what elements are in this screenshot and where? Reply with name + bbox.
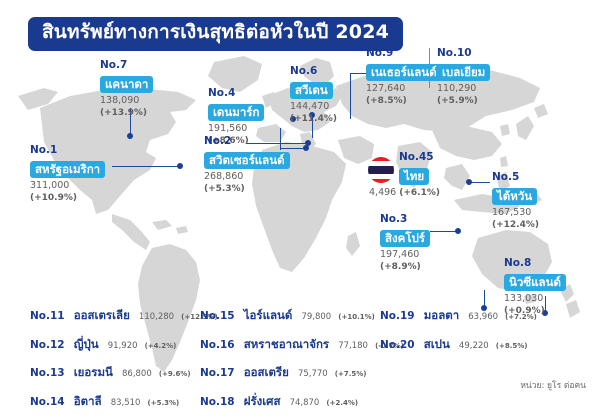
callout-rank: No.4 bbox=[208, 88, 264, 100]
callout-belgium[interactable]: No.10 เบลเยียม 110,290 (+5.9%) bbox=[437, 48, 490, 107]
list-value: 74,870 bbox=[290, 398, 320, 408]
callout-rank: No.7 bbox=[100, 60, 153, 72]
infographic-root: สินทรัพย์ทางการเงินสุทธิต่อหัวในปี 2024 … bbox=[0, 0, 600, 400]
unit-footnote: หน่วย: ยูโร ต่อคน bbox=[520, 378, 586, 392]
list-value: 86,800 bbox=[122, 369, 152, 379]
list-value: 79,800 bbox=[301, 312, 331, 322]
list-country: มอลตา bbox=[424, 308, 459, 322]
callout-country: ไทย bbox=[399, 168, 429, 185]
callout-value: 268,860 bbox=[204, 171, 290, 184]
list-country: สเปน bbox=[424, 337, 450, 351]
divider-nl-be bbox=[429, 48, 430, 88]
list-rank: No.15 bbox=[200, 310, 235, 322]
list-item[interactable]: No.12 ญี่ปุ่น 91,920 (+4.2%) bbox=[30, 335, 218, 351]
callout-value: 144,470 bbox=[290, 101, 337, 114]
list-item[interactable]: No.15 ไอร์แลนด์ 79,800 (+10.1%) bbox=[200, 306, 404, 322]
map-dot-usa bbox=[177, 163, 183, 169]
list-value: 83,510 bbox=[111, 398, 141, 408]
callout-rank: No.6 bbox=[290, 66, 337, 78]
rank-list-column-2: No.15 ไอร์แลนด์ 79,800 (+10.1%) No.16 สห… bbox=[200, 306, 404, 420]
list-change: (+4.2%) bbox=[145, 342, 177, 350]
list-country: เยอรมนี bbox=[74, 365, 113, 379]
list-value: 49,220 bbox=[459, 341, 489, 351]
callout-change: (+6.1%) bbox=[399, 188, 440, 198]
callout-thailand[interactable]: No.45 ไทย 4,496 (+6.1%) bbox=[399, 152, 440, 200]
callout-country: สหรัฐอเมริกา bbox=[30, 161, 105, 178]
callout-change: (+5.3%) bbox=[204, 184, 290, 195]
callout-change: (+5.9%) bbox=[437, 96, 490, 107]
list-change: (+10.1%) bbox=[338, 313, 375, 321]
callout-value: 311,000 bbox=[30, 180, 105, 193]
list-item[interactable]: No.19 มอลตา 63,960 (+7.2%) bbox=[380, 306, 537, 322]
callout-canada[interactable]: No.7 แคนาดา 138,090 (+13.9%) bbox=[100, 60, 153, 119]
list-country: สหราชอาณาจักร bbox=[244, 337, 329, 351]
list-item[interactable]: No.16 สหราชอาณาจักร 77,180 (-0.7%) bbox=[200, 335, 404, 351]
callout-change: (+11.4%) bbox=[290, 114, 337, 125]
callout-value: 4,496 bbox=[369, 187, 396, 198]
list-rank: No.17 bbox=[200, 367, 235, 379]
callout-change: (+12.4%) bbox=[492, 220, 539, 231]
list-country: ไอร์แลนด์ bbox=[244, 308, 293, 322]
leader-line-nl-v bbox=[350, 73, 351, 119]
callout-change: (+8.9%) bbox=[380, 262, 430, 273]
list-rank: No.12 bbox=[30, 339, 65, 351]
list-country: อิตาลี bbox=[74, 394, 102, 408]
list-rank: No.19 bbox=[380, 310, 415, 322]
callout-rank: No.8 bbox=[504, 258, 566, 270]
list-change: (+7.2%) bbox=[505, 313, 537, 321]
list-rank: No.13 bbox=[30, 367, 65, 379]
list-value: 75,770 bbox=[298, 369, 328, 379]
rank-list-column-3: No.19 มอลตา 63,960 (+7.2%) No.20 สเปน 49… bbox=[380, 306, 537, 363]
map-dot-canada bbox=[127, 133, 133, 139]
list-country: ฝรั่งเศส bbox=[244, 394, 281, 408]
list-value: 110,280 bbox=[139, 312, 174, 322]
list-rank: No.14 bbox=[30, 396, 65, 408]
list-item[interactable]: No.20 สเปน 49,220 (+8.5%) bbox=[380, 335, 537, 351]
list-value: 77,180 bbox=[338, 341, 368, 351]
rank-list-column-1: No.11 ออสเตรเลีย 110,280 (+12.5%) No.12 … bbox=[30, 306, 218, 420]
thailand-flag-icon bbox=[368, 157, 394, 183]
leader-line-usa bbox=[112, 166, 180, 167]
callout-usa[interactable]: No.1 สหรัฐอเมริกา 311,000 (+10.9%) bbox=[30, 145, 105, 204]
list-country: ญี่ปุ่น bbox=[74, 337, 99, 351]
list-value: 91,920 bbox=[108, 341, 138, 351]
callout-value: 110,290 bbox=[437, 83, 490, 96]
list-change: (+8.5%) bbox=[496, 342, 528, 350]
list-change: (+7.5%) bbox=[335, 370, 367, 378]
callout-rank: No.5 bbox=[492, 172, 539, 184]
callout-country: สวิตเซอร์แลนด์ bbox=[204, 152, 290, 169]
callout-rank: No.45 bbox=[399, 152, 440, 164]
list-country: ออสเตรเลีย bbox=[74, 308, 130, 322]
callout-country: สวีเดน bbox=[290, 82, 333, 99]
callout-change: (+13.9%) bbox=[100, 108, 153, 119]
callout-rank: No.3 bbox=[380, 214, 430, 226]
list-rank: No.18 bbox=[200, 396, 235, 408]
callout-value: 191,560 bbox=[208, 123, 264, 136]
callout-country: ไต้หวัน bbox=[492, 188, 537, 205]
map-dot-singapore bbox=[455, 228, 461, 234]
callout-country: เดนมาร์ก bbox=[208, 104, 264, 121]
map-dot-swiss bbox=[305, 140, 311, 146]
list-item[interactable]: No.17 ออสเตรีย 75,770 (+7.5%) bbox=[200, 363, 404, 379]
list-rank: No.20 bbox=[380, 339, 415, 351]
callout-country: เบลเยียม bbox=[437, 64, 490, 81]
callout-switzerland[interactable]: No.2 สวิตเซอร์แลนด์ 268,860 (+5.3%) bbox=[204, 136, 290, 195]
callout-value: 167,530 bbox=[492, 207, 539, 220]
callout-rank: No.1 bbox=[30, 145, 105, 157]
page-title: สินทรัพย์ทางการเงินสุทธิต่อหัวในปี 2024 bbox=[28, 17, 403, 51]
callout-rank: No.2 bbox=[204, 136, 290, 148]
callout-change: (+10.9%) bbox=[30, 193, 105, 204]
leader-line-singapore bbox=[430, 231, 458, 232]
list-change: (+9.6%) bbox=[159, 370, 191, 378]
leader-line-taiwan bbox=[470, 182, 490, 183]
map-dot-taiwan bbox=[466, 179, 472, 185]
list-item[interactable]: No.13 เยอรมนี 86,800 (+9.6%) bbox=[30, 363, 218, 379]
callout-value: 197,460 bbox=[380, 249, 430, 262]
callout-value: 133,030 bbox=[504, 293, 566, 306]
list-item[interactable]: No.11 ออสเตรเลีย 110,280 (+12.5%) bbox=[30, 306, 218, 322]
list-value: 63,960 bbox=[468, 312, 498, 322]
list-rank: No.11 bbox=[30, 310, 65, 322]
callout-country: นิวซีแลนด์ bbox=[504, 274, 566, 291]
callout-singapore[interactable]: No.3 สิงคโปร์ 197,460 (+8.9%) bbox=[380, 214, 430, 273]
callout-sweden[interactable]: No.6 สวีเดน 144,470 (+11.4%) bbox=[290, 66, 337, 125]
list-rank: No.16 bbox=[200, 339, 235, 351]
callout-value: 138,090 bbox=[100, 95, 153, 108]
leader-line-nl bbox=[350, 73, 366, 74]
callout-change: (+8.5%) bbox=[366, 96, 442, 107]
callout-country: สิงคโปร์ bbox=[380, 230, 430, 247]
callout-country: แคนาดา bbox=[100, 76, 153, 93]
callout-taiwan[interactable]: No.5 ไต้หวัน 167,530 (+12.4%) bbox=[492, 172, 539, 231]
callout-rank: No.10 bbox=[437, 48, 490, 60]
list-country: ออสเตรีย bbox=[244, 365, 289, 379]
